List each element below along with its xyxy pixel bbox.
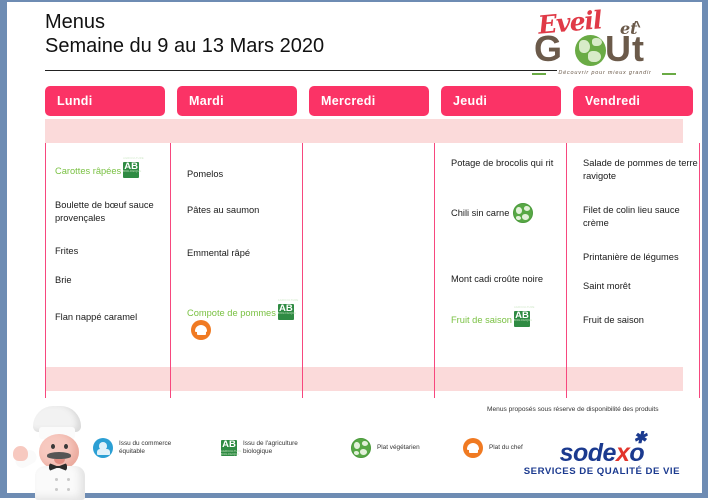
day-header-mercredi[interactable]: Mercredi: [309, 86, 429, 116]
legend-item: Plat végétarien: [347, 438, 437, 458]
day-header-lundi[interactable]: Lundi: [45, 86, 165, 116]
legend-label: Issu du commerce équitable: [119, 440, 197, 457]
menu-item: Printanière de légumes: [583, 251, 707, 264]
column-divider: [434, 143, 435, 398]
sodexo-logo: sodexo✱ SERVICES DE QUALITÉ DE VIE: [524, 439, 680, 477]
menu-table: LundiCarottes râpéesABAGRICULTURE BIOLOG…: [45, 86, 683, 398]
menu-item: Frites: [55, 245, 179, 258]
menu-item: Flan nappé caramel: [55, 311, 179, 324]
ab-bio-icon: ABAGRICULTURE BIOLOGIQUE: [221, 440, 237, 456]
menu-item-label: Fruit de saison: [451, 315, 512, 325]
menu-item: Filet de colin lieu sauce crème: [583, 204, 707, 229]
menu-item: Pâtes au saumon: [187, 204, 311, 217]
day-header-mardi[interactable]: Mardi: [177, 86, 297, 116]
column-divider: [45, 143, 46, 398]
vegetarian-icon: [351, 438, 371, 458]
disclaimer-text: Menus proposés sous réserve de disponibi…: [487, 406, 659, 413]
sodexo-wordmark: sodexo✱: [560, 439, 645, 468]
ab-bio-icon: ABAGRICULTURE BIOLOGIQUE: [514, 311, 530, 327]
top-pink-band: [45, 119, 683, 143]
ab-bio-icon: ABAGRICULTURE BIOLOGIQUE: [278, 304, 294, 320]
star-icon: ✱: [633, 428, 646, 448]
menu-item: Saint morêt: [583, 280, 707, 293]
menu-item-label: Saint morêt: [583, 281, 631, 291]
globe-icon: [575, 35, 606, 66]
menu-item-label: Filet de colin lieu sauce crème: [583, 205, 680, 228]
menu-item: Boulette de bœuf sauce provençales: [55, 199, 179, 224]
logo-tagline: Découvrir pour mieux grandir: [532, 70, 678, 76]
menu-item-label: Potage de brocolis qui rit: [451, 158, 553, 168]
menu-item-label: Chili sin carne: [451, 208, 509, 218]
legend-label: Issu de l'agriculture biologique: [243, 440, 325, 457]
menu-item: Fruit de saison: [583, 314, 707, 327]
menu-item: Brie: [55, 274, 179, 287]
menu-item-label: Brie: [55, 275, 72, 285]
menu-item: Mont cadi croûte noire: [451, 273, 575, 286]
column-divider: [302, 143, 303, 398]
menu-item-label: Salade de pommes de terre ravigote: [583, 158, 698, 181]
menu-item-label: Flan nappé caramel: [55, 312, 137, 322]
week-subtitle: Semaine du 9 au 13 Mars 2020: [45, 34, 555, 58]
menu-item-label: Mont cadi croûte noire: [451, 274, 543, 284]
menu-poster: Menus Semaine du 9 au 13 Mars 2020 Eveil…: [0, 0, 708, 498]
menu-item-label: Frites: [55, 246, 78, 256]
page-title: Menus: [45, 10, 555, 34]
legend-item: ABAGRICULTURE BIOLOGIQUEIssu de l'agricu…: [219, 440, 325, 457]
ab-bio-icon: ABAGRICULTURE BIOLOGIQUE: [123, 162, 139, 178]
day-header-jeudi[interactable]: Jeudi: [441, 86, 561, 116]
chef-special-icon: [463, 438, 483, 458]
sodexo-name-a: sode: [560, 439, 616, 467]
menu-item-label: Pâtes au saumon: [187, 205, 259, 215]
chef-special-icon: [191, 320, 211, 340]
menu-item: Salade de pommes de terre ravigote: [583, 157, 707, 182]
chef-mascot: [11, 406, 103, 498]
menu-item: Potage de brocolis qui rit: [451, 157, 575, 170]
menu-item: Fruit de saisonABAGRICULTURE BIOLOGIQUE: [451, 311, 575, 327]
logo-gout-g: G: [534, 28, 563, 69]
menu-item-label: Compote de pommes: [187, 308, 276, 318]
menu-item: Chili sin carne: [451, 203, 575, 223]
menu-item-label: Pomelos: [187, 169, 223, 179]
column-divider: [566, 143, 567, 398]
menu-item: Carottes râpéesABAGRICULTURE BIOLOGIQUE: [55, 162, 179, 178]
menu-item: Emmental râpé: [187, 247, 311, 260]
vegetarian-icon: [513, 203, 533, 223]
tagline-dash-right-icon: [662, 73, 676, 75]
menu-item: Pomelos: [187, 168, 311, 181]
legend-label: Plat végétarien: [377, 444, 437, 452]
menu-item-label: Fruit de saison: [583, 315, 644, 325]
menu-item-label: Printanière de légumes: [583, 252, 679, 262]
day-header-vendredi[interactable]: Vendredi: [573, 86, 693, 116]
menu-item-label: Boulette de bœuf sauce provençales: [55, 200, 154, 223]
eveil-et-gout-logo: Eveil et G Ut ^ Découvrir pour mieux gra…: [528, 6, 680, 80]
menu-item-label: Emmental râpé: [187, 248, 250, 258]
bottom-pink-band: [45, 367, 683, 391]
legend-item: Issu du commerce équitable: [93, 438, 197, 458]
page-header: Menus Semaine du 9 au 13 Mars 2020: [45, 10, 555, 58]
menu-item-label: Carottes râpées: [55, 166, 121, 176]
header-divider: [45, 70, 557, 71]
sodexo-name-x: x: [616, 439, 629, 467]
circumflex-icon: ^: [632, 18, 641, 35]
column-divider: [170, 143, 171, 398]
menu-item: Compote de pommesABAGRICULTURE BIOLOGIQU…: [187, 304, 311, 340]
legend: Issu du commerce équitableABAGRICULTURE …: [93, 438, 561, 458]
